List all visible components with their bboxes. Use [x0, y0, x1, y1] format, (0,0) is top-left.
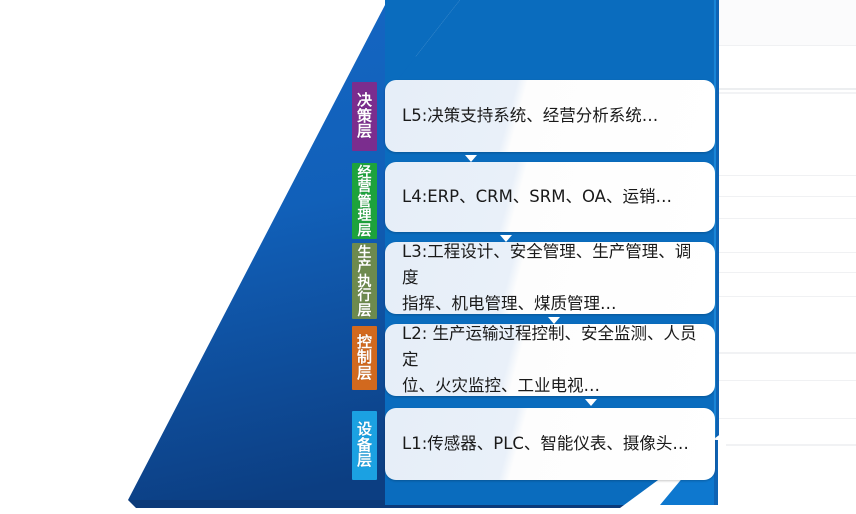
tab-char: 备 [357, 438, 372, 454]
tab-char: 行 [358, 288, 372, 303]
diagram-canvas: 决 策 层 L5:决策支持系统、经营分析系统… 经 营 管 理 层 L4:ERP… [0, 0, 856, 514]
tab-char: 层 [357, 453, 372, 469]
flow-arrow-l4-l3 [500, 235, 512, 242]
layer-tab-l2[interactable]: 控 制 层 [352, 326, 377, 390]
layer-box-l2[interactable]: L2: 生产运输过程控制、安全监测、人员定 位、火灾监控、工业电视… [385, 324, 715, 396]
layer-text-l1: L1:传感器、PLC、智能仪表、摄像头… [385, 431, 699, 457]
flow-arrow-l3-l2 [548, 317, 560, 324]
layer-text-l4: L4:ERP、CRM、SRM、OA、运销… [385, 184, 682, 210]
tab-char: 层 [358, 303, 372, 318]
tab-char: 设 [357, 422, 372, 438]
tab-char: 制 [357, 350, 372, 366]
tab-char: 层 [357, 366, 372, 382]
layer-box-l3[interactable]: L3:工程设计、安全管理、生产管理、调度 指挥、机电管理、煤质管理… [385, 242, 715, 314]
flow-arrow-l5-l4 [465, 155, 477, 162]
tab-char: 营 [358, 179, 372, 194]
layer-tab-l4[interactable]: 经 营 管 理 层 [352, 163, 377, 239]
layer-box-l5[interactable]: L5:决策支持系统、经营分析系统… [385, 80, 715, 152]
flow-arrow-l2-l1 [585, 399, 597, 406]
layer-text-l2: L2: 生产运输过程控制、安全监测、人员定 位、火灾监控、工业电视… [385, 324, 715, 396]
tab-char: 层 [358, 223, 372, 238]
layer-tab-l5[interactable]: 决 策 层 [352, 82, 377, 151]
layer-box-l4[interactable]: L4:ERP、CRM、SRM、OA、运销… [385, 162, 715, 232]
layer-text-l5: L5:决策支持系统、经营分析系统… [385, 103, 668, 129]
tab-char: 层 [357, 124, 372, 140]
layer-text-l3: L3:工程设计、安全管理、生产管理、调度 指挥、机电管理、煤质管理… [385, 242, 715, 314]
layer-tab-l3[interactable]: 生 产 执 行 层 [352, 243, 377, 319]
tab-char: 理 [358, 208, 372, 223]
tab-char: 决 [357, 93, 372, 109]
layer-tab-l1[interactable]: 设 备 层 [352, 411, 377, 480]
tab-char: 策 [357, 109, 372, 125]
layer-box-l1[interactable]: L1:传感器、PLC、智能仪表、摄像头… [385, 408, 715, 480]
tab-char: 控 [357, 335, 372, 351]
tab-char: 产 [358, 259, 372, 274]
